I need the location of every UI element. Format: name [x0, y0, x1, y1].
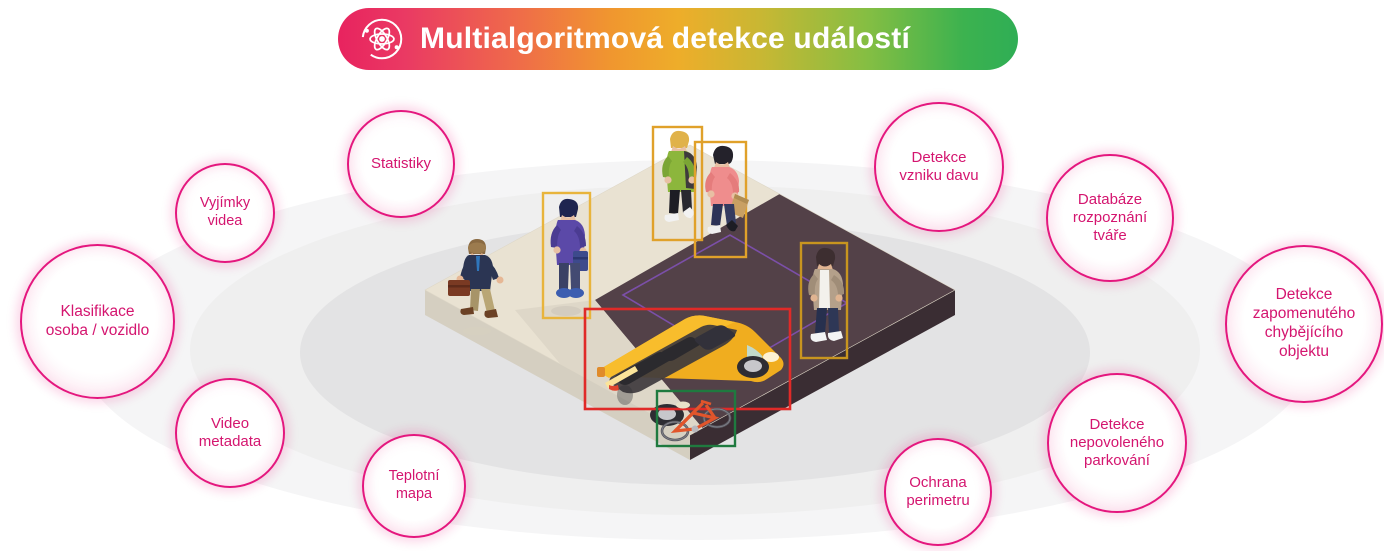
feature-bubble-line: Ochrana — [906, 474, 969, 492]
feature-bubble-databaze-tvare[interactable]: Databázerozpoznánítváře — [1046, 154, 1174, 282]
feature-bubble-klasifikace[interactable]: Klasifikaceosoba / vozidlo — [20, 244, 175, 399]
feature-bubble-label: Ochranaperimetru — [906, 474, 969, 511]
feature-bubble-label: Detekcezapomenutéhochybějícíhoobjektu — [1253, 286, 1356, 362]
feature-bubble-line: nepovoleného — [1070, 434, 1164, 452]
feature-bubble-line: chybějícího — [1253, 324, 1356, 343]
feature-bubble-line: Klasifikace — [46, 303, 149, 322]
feature-bubble-line: Teplotní — [389, 468, 440, 486]
feature-bubble-label: Teplotnímapa — [389, 468, 440, 503]
feature-bubble-label: Detekcenepovolenéhoparkování — [1070, 416, 1164, 471]
feature-bubble-line: objektu — [1253, 343, 1356, 362]
feature-bubble-detekce-zapomenuteho[interactable]: Detekcezapomenutéhochybějícíhoobjektu — [1225, 245, 1383, 403]
feature-bubble-line: Detekce — [899, 149, 978, 167]
feature-bubble-label: Klasifikaceosoba / vozidlo — [46, 303, 149, 341]
feature-bubble-line: vzniku davu — [899, 167, 978, 185]
feature-bubble-ochrana-perimetru[interactable]: Ochranaperimetru — [884, 438, 992, 546]
feature-bubble-label: Statistiky — [371, 155, 431, 173]
feature-bubble-line: videa — [200, 213, 250, 231]
feature-bubble-line: Databáze — [1073, 191, 1147, 209]
feature-bubble-teplotni-mapa[interactable]: Teplotnímapa — [362, 434, 466, 538]
feature-bubble-label: Videometadata — [199, 415, 262, 452]
feature-bubble-line: tváře — [1073, 227, 1147, 245]
feature-bubble-line: Detekce — [1070, 416, 1164, 434]
feature-bubble-vyjimky-videa[interactable]: Vyjímkyvidea — [175, 163, 275, 263]
feature-bubble-line: Video — [199, 415, 262, 433]
feature-bubble-line: osoba / vozidlo — [46, 322, 149, 341]
feature-bubble-line: zapomenutého — [1253, 305, 1356, 324]
feature-bubble-line: mapa — [389, 486, 440, 504]
atom-icon — [360, 17, 404, 61]
feature-bubble-label: Vyjímkyvidea — [200, 195, 250, 230]
feature-bubble-line: rozpoznání — [1073, 209, 1147, 227]
feature-bubble-line: parkování — [1070, 452, 1164, 470]
feature-bubble-label: Databázerozpoznánítváře — [1073, 191, 1147, 246]
feature-bubble-video-metadata[interactable]: Videometadata — [175, 378, 285, 488]
feature-bubble-line: Vyjímky — [200, 195, 250, 213]
feature-bubble-line: perimetru — [906, 492, 969, 510]
title-banner: Multialgoritmová detekce událostí — [338, 8, 1018, 70]
page-title: Multialgoritmová detekce událostí — [420, 24, 910, 54]
feature-bubble-detekce-parkovani[interactable]: Detekcenepovolenéhoparkování — [1047, 373, 1187, 513]
feature-bubble-line: Statistiky — [371, 155, 431, 173]
feature-bubble-label: Detekcevzniku davu — [899, 149, 978, 186]
feature-bubble-statistiky[interactable]: Statistiky — [347, 110, 455, 218]
feature-bubble-detekce-davu[interactable]: Detekcevzniku davu — [874, 102, 1004, 232]
feature-bubble-line: Detekce — [1253, 286, 1356, 305]
infographic-canvas: Multialgoritmová detekce událostí Statis… — [0, 0, 1384, 551]
feature-bubble-line: metadata — [199, 433, 262, 451]
